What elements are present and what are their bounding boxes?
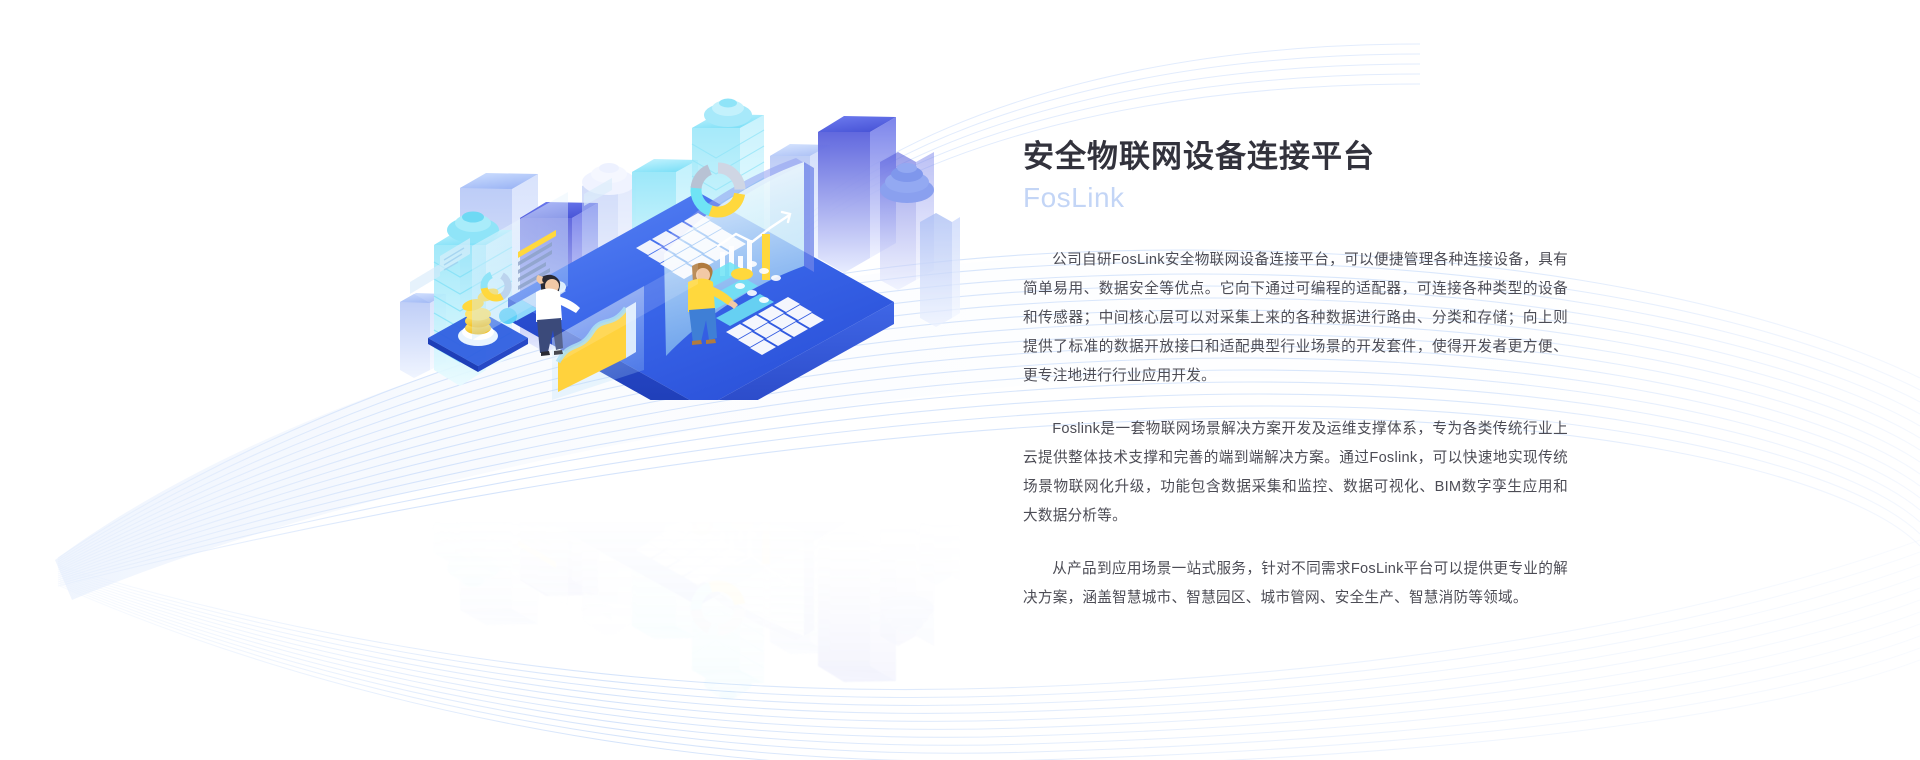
page-title: 安全物联网设备连接平台 <box>1023 136 1568 178</box>
product-name-subtitle: FosLink <box>1023 180 1568 216</box>
paragraph-2: Foslink是一套物联网场景解决方案开发及运维支撑体系，专为各类传统行业上云提… <box>1023 415 1568 531</box>
hero-text-column: 安全物联网设备连接平台 FosLink 公司自研FosLink安全物联网设备连接… <box>1023 136 1568 613</box>
paragraph-3: 从产品到应用场景一站式服务，针对不同需求FosLink平台可以提供更专业的解决方… <box>1023 555 1568 613</box>
paragraph-1: 公司自研FosLink安全物联网设备连接平台，可以便捷管理各种连接设备，具有简单… <box>1023 246 1568 391</box>
hero-description: 公司自研FosLink安全物联网设备连接平台，可以便捷管理各种连接设备，具有简单… <box>1023 246 1568 613</box>
hero-section: 安全物联网设备连接平台 FosLink 公司自研FosLink安全物联网设备连接… <box>0 0 1920 760</box>
